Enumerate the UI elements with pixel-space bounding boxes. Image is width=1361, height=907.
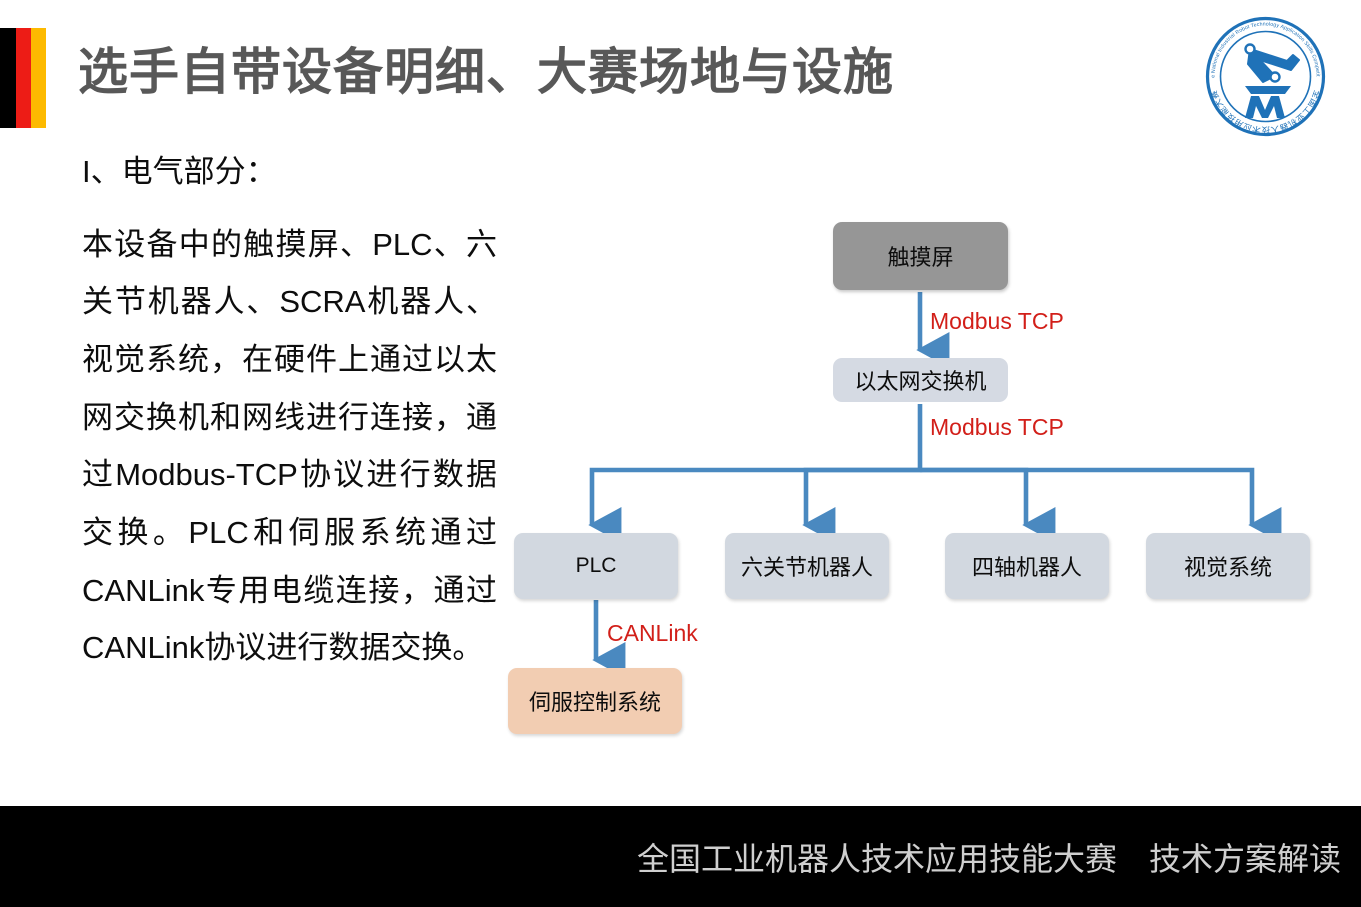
diagram-node-label: PLC [576,554,617,578]
accent-bar-black [0,28,16,128]
edge-label-modbus-tcp-top: Modbus TCP [930,308,1064,335]
diagram-node-servo-control-system: 伺服控制系统 [508,668,682,734]
competition-logo: The National Industrial Robot Technology… [1203,14,1328,139]
diagram-node-touchscreen: 触摸屏 [833,222,1008,290]
accent-bar-red [16,28,31,128]
diagram-node-six-axis-robot: 六关节机器人 [725,533,889,599]
edge-label-canlink: CANLink [607,620,698,647]
diagram-node-vision-system: 视觉系统 [1146,533,1310,599]
diagram-node-label: 六关节机器人 [741,550,873,582]
diagram-node-switch: 以太网交换机 [833,358,1008,402]
accent-flag-bars [0,28,46,128]
diagram-node-plc: PLC [514,533,678,599]
body-paragraph: 本设备中的触摸屏、PLC、六关节机器人、SCRA机器人、视觉系统，在硬件上通过以… [82,216,497,677]
diagram-node-label: 视觉系统 [1184,550,1272,582]
diagram-node-four-axis-robot: 四轴机器人 [945,533,1109,599]
section-heading: I、电气部分： [82,152,497,192]
diagram-node-label: 触摸屏 [887,240,953,272]
page-title: 选手自带设备明细、大赛场地与设施 [78,32,894,104]
slide-root: 选手自带设备明细、大赛场地与设施 The National Industrial… [0,0,1361,907]
diagram-node-label: 四轴机器人 [972,550,1082,582]
accent-bar-gold [31,28,46,128]
footer-text: 全国工业机器人技术应用技能大赛 技术方案解读 [637,834,1341,880]
diagram-node-label: 以太网交换机 [854,364,986,396]
diagram-node-label: 伺服控制系统 [529,685,661,717]
edge-label-modbus-tcp-bottom: Modbus TCP [930,414,1064,441]
left-text-column: I、电气部分： 本设备中的触摸屏、PLC、六关节机器人、SCRA机器人、视觉系统… [82,152,497,677]
